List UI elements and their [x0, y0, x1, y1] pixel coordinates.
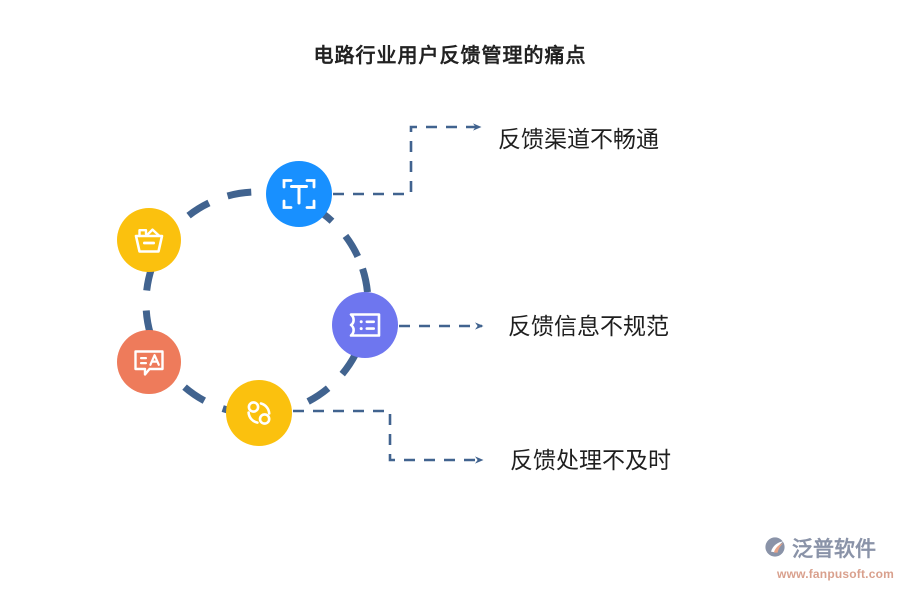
callout-label-feedback-format: 反馈信息不规范 [508, 310, 669, 342]
diagram-connectors [0, 0, 900, 600]
basket-remove-icon [130, 221, 168, 259]
diagram-canvas: 电路行业用户反馈管理的痛点 [0, 0, 900, 600]
callout-label-feedback-timeliness: 反馈处理不及时 [510, 444, 671, 476]
callout-3-connector [293, 411, 482, 460]
callout-1-connector [333, 127, 480, 194]
node-refresh-cycle[interactable] [226, 380, 292, 446]
node-basket-remove[interactable] [117, 208, 181, 272]
node-ticket-list[interactable] [332, 292, 398, 358]
refresh-cycle-icon [239, 393, 279, 433]
watermark: 泛普软件 www.fanpusoft.com [762, 534, 894, 586]
node-feedback-message[interactable] [117, 330, 181, 394]
text-scan-icon [279, 174, 319, 214]
ticket-list-icon [345, 305, 385, 345]
watermark-url: www.fanpusoft.com [762, 567, 894, 581]
fanpu-logo-icon [762, 534, 788, 565]
callout-label-feedback-channel: 反馈渠道不畅通 [498, 123, 659, 155]
node-text-scan[interactable] [266, 161, 332, 227]
speech-bubble-a-icon [130, 343, 168, 381]
watermark-brand: 泛普软件 [792, 538, 876, 562]
